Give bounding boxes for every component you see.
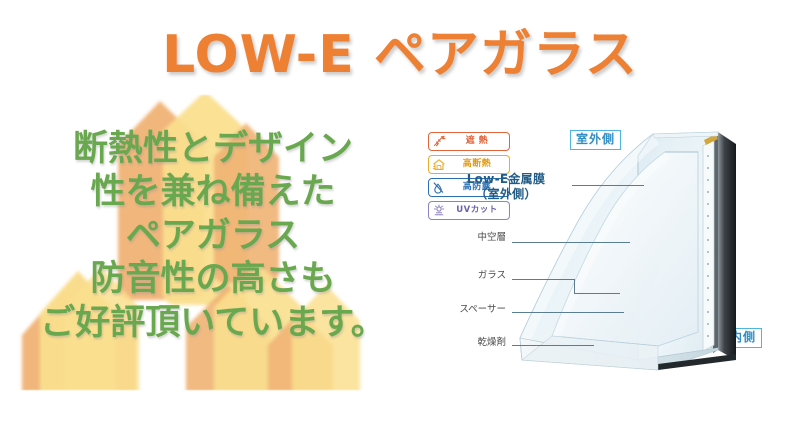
callout-low-e-film: Low-E金属膜 （室外側）: [448, 172, 564, 202]
copy-line-4: 防音性の高さも: [8, 258, 418, 301]
leader-spacer: [512, 312, 624, 313]
callout-desiccant: 乾燥剤: [444, 337, 506, 349]
page-title: LOW-E ペアガラス: [0, 29, 800, 81]
callout-air-layer: 中空層: [444, 232, 506, 244]
sun-uv-icon: [432, 204, 446, 217]
leader-glass-b: [574, 293, 620, 294]
leader-air-layer: [512, 242, 630, 243]
leader-glass-bracket: [574, 279, 575, 293]
callout-line-2: （室外側）: [475, 187, 537, 201]
copy-line-1: 断熱性とデザイン: [8, 128, 418, 171]
leader-desiccant: [512, 345, 594, 346]
callout-glass: ガラス: [444, 270, 506, 282]
callout-line-1: Low-E金属膜: [467, 172, 546, 186]
marketing-copy: 断熱性とデザイン 性を兼ね備えた ペアガラス 防音性の高さも ご好評頂いています…: [8, 128, 418, 345]
house-icon: [432, 158, 446, 171]
double-glazing-illustration: [460, 122, 800, 384]
copy-line-3: ペアガラス: [8, 215, 418, 258]
copy-line-2: 性を兼ね備えた: [8, 171, 418, 214]
droplet-icon: [432, 181, 446, 194]
poster-canvas: LOW-E ペアガラス 断熱性とデザイン 性を兼ね備えた ペアガラス 防音性の高…: [0, 0, 800, 429]
glass-cross-section-diagram: 遮 熱 高断熱 高防露: [420, 122, 800, 384]
copy-line-5: ご好評頂いています。: [8, 302, 418, 345]
heat-ray-icon: [432, 135, 446, 148]
callout-spacer: スペーサー: [430, 304, 506, 316]
leader-glass-a: [512, 279, 574, 280]
leader-low-e: [572, 185, 644, 186]
